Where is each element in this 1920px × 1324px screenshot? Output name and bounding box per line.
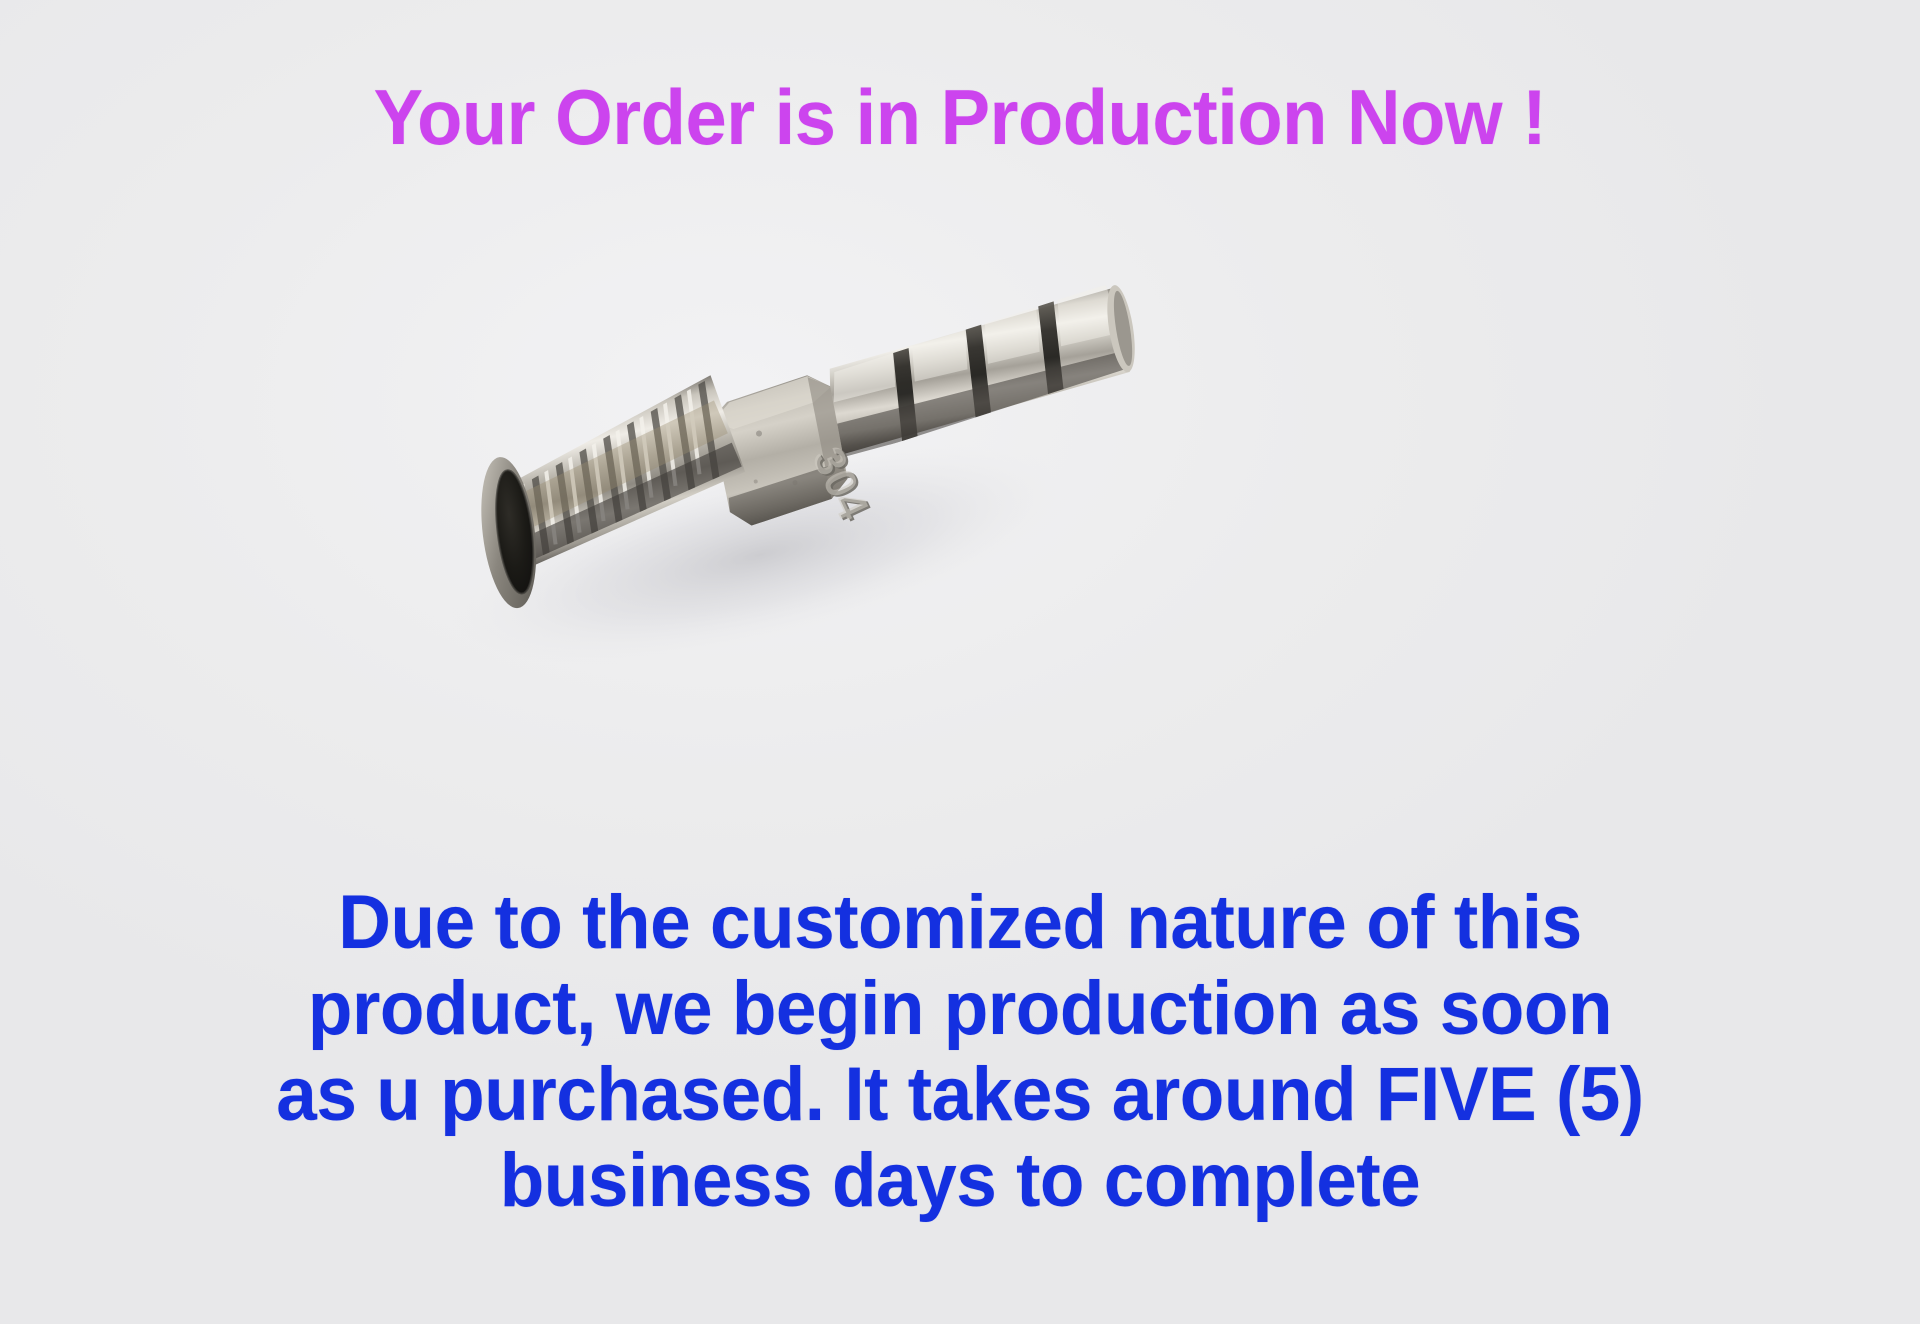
production-notice: Due to the customized nature of this pro… (38, 880, 1881, 1224)
notice-line-4: business days to complete (38, 1138, 1881, 1224)
product-photo: 304 304 (430, 285, 1190, 775)
notice-line-2: product, we begin production as soon (38, 966, 1881, 1052)
promotional-banner: Your Order is in Production Now ! (0, 0, 1920, 1324)
notice-line-1: Due to the customized nature of this (38, 880, 1881, 966)
notice-line-3: as u purchased. It takes around FIVE (5) (38, 1052, 1881, 1138)
page-title: Your Order is in Production Now ! (48, 72, 1872, 163)
